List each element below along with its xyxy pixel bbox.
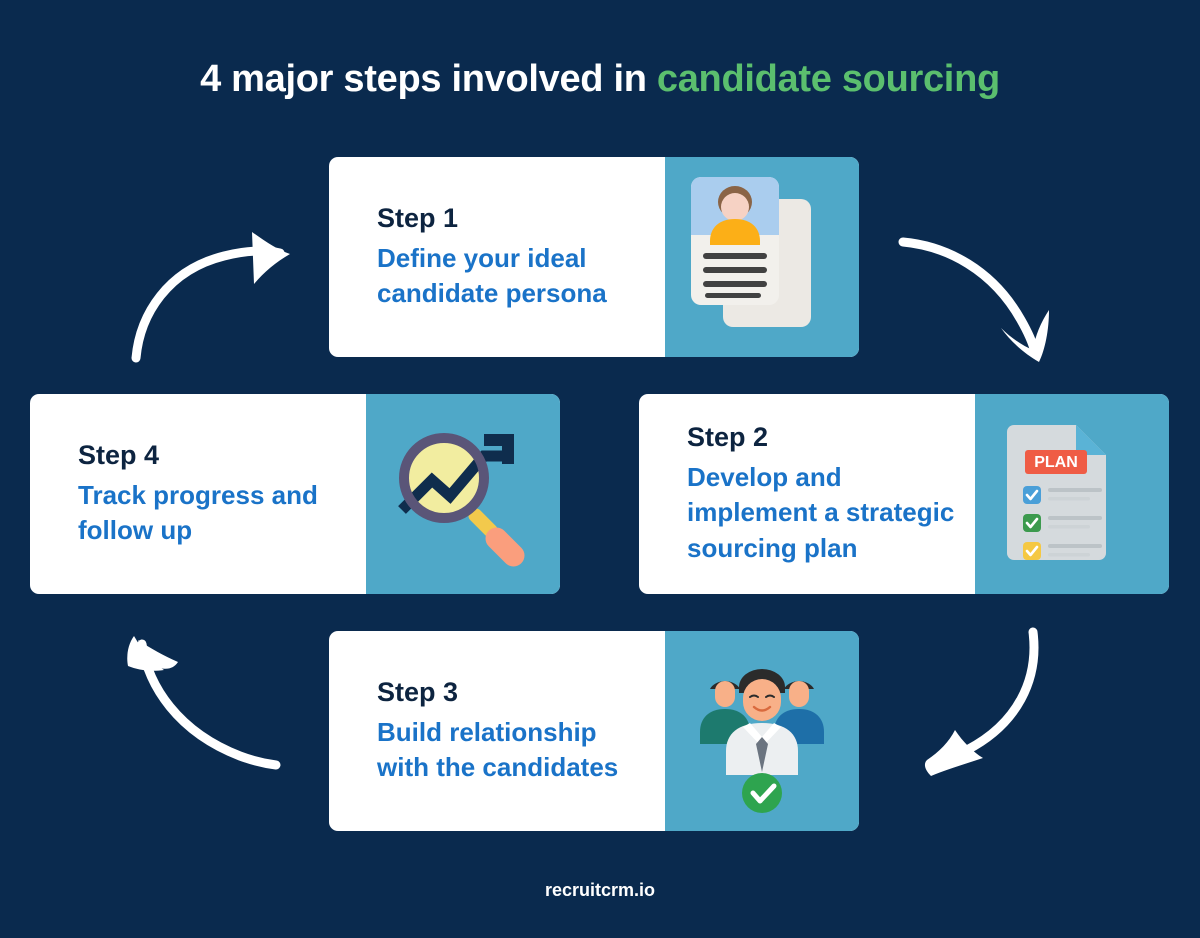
plan-checklist-icon: PLAN: [975, 394, 1169, 594]
arrow-step1-to-step2: [895, 228, 1070, 363]
title-lead: 4 major steps involved in: [200, 58, 657, 100]
step-card-1-text: Step 1 Define your ideal candidate perso…: [329, 157, 665, 357]
step-card-1-art-panel: [665, 157, 859, 357]
step-card-1-description: Define your ideal candidate persona: [377, 241, 651, 311]
plan-badge-text: PLAN: [1034, 454, 1078, 471]
step-card-3[interactable]: Step 3 Build relationship with the candi…: [329, 631, 859, 831]
step-card-1-label: Step 1: [377, 203, 651, 234]
step-card-4-art-panel: [366, 394, 560, 594]
step-card-2-text: Step 2 Develop and implement a strategic…: [639, 394, 975, 594]
arrow-step2-to-step3: [905, 618, 1070, 783]
step-card-2-art-panel: PLAN: [975, 394, 1169, 594]
step-card-4-label: Step 4: [78, 440, 352, 471]
step-card-2-label: Step 2: [687, 422, 961, 453]
step-card-2-description: Develop and implement a strategic sourci…: [687, 460, 961, 565]
arrow-step3-to-step4: [112, 622, 284, 777]
step-card-3-label: Step 3: [377, 677, 651, 708]
step-card-2[interactable]: Step 2 Develop and implement a strategic…: [639, 394, 1169, 594]
magnifier-trend-icon: [366, 394, 560, 594]
step-card-1[interactable]: Step 1 Define your ideal candidate perso…: [329, 157, 859, 357]
arrow-step4-to-step1: [120, 222, 310, 367]
page-title: 4 major steps involved in candidate sour…: [0, 58, 1200, 101]
candidate-group-icon: [665, 631, 859, 831]
infographic-canvas: 4 major steps involved in candidate sour…: [0, 0, 1200, 938]
step-card-3-art-panel: [665, 631, 859, 831]
step-card-4[interactable]: Step 4 Track progress and follow up: [30, 394, 560, 594]
step-card-3-description: Build relationship with the candidates: [377, 715, 651, 785]
step-card-4-text: Step 4 Track progress and follow up: [30, 394, 366, 594]
step-card-3-text: Step 3 Build relationship with the candi…: [329, 631, 665, 831]
resume-document-icon: [665, 157, 859, 357]
footer-brand: recruitcrm.io: [0, 880, 1200, 901]
title-accent: candidate sourcing: [657, 58, 1000, 100]
step-card-4-description: Track progress and follow up: [78, 478, 352, 548]
